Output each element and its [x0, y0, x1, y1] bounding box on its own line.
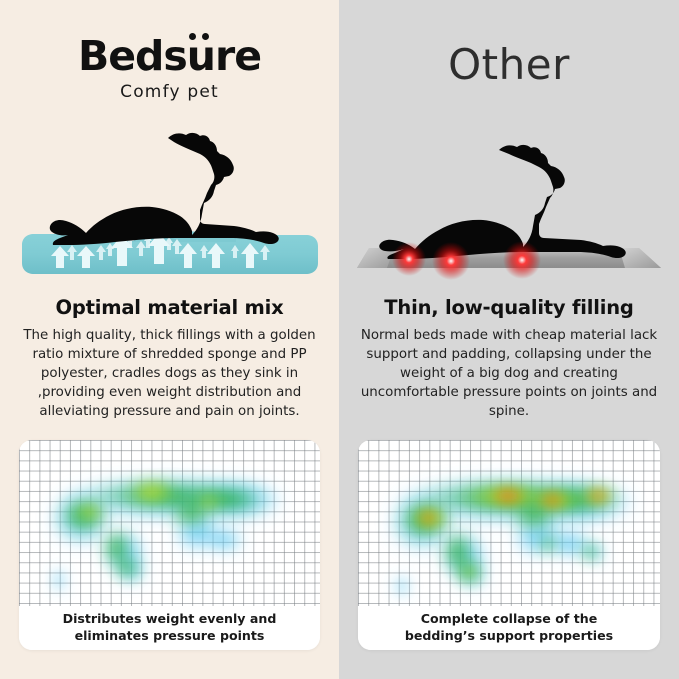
brand-dot-left-icon — [189, 33, 196, 40]
hotspot-1 — [392, 242, 426, 276]
brand-dot-right-icon — [202, 33, 209, 40]
brand-text-part1: Beds — [78, 32, 187, 80]
heatmap-card-left: Distributes weight evenly and eliminates… — [19, 440, 320, 650]
brand-tagline: Comfy pet — [0, 82, 339, 102]
heatmap-card-right: Complete collapse of the bedding’s suppo… — [358, 440, 660, 650]
brand-u-with-dots: u — [187, 36, 215, 77]
heatmap-plot-right — [358, 440, 660, 608]
heatmap-plot-left — [19, 440, 320, 608]
heatmap-caption-left: Distributes weight evenly and eliminates… — [19, 606, 320, 650]
hotspot-3 — [503, 241, 541, 279]
left-caption-line2: eliminates pressure points — [75, 628, 265, 643]
panel-other: Other — [339, 0, 679, 679]
brand-text-part3: re — [215, 32, 261, 80]
brand-logo: Bedsure Comfy pet — [0, 36, 339, 102]
right-body: Normal beds made with cheap material lac… — [353, 326, 665, 421]
copy-block-right: Thin, low-quality filling Normal beds ma… — [353, 296, 665, 421]
left-heading: Optimal material mix — [14, 296, 325, 319]
comparison-board: Bedsure Comfy pet — [0, 0, 679, 679]
heatmap-caption-right: Complete collapse of the bedding’s suppo… — [358, 606, 660, 650]
illustration-dog-on-thick-bed — [0, 128, 339, 288]
right-heading: Thin, low-quality filling — [353, 296, 665, 319]
left-caption-line1: Distributes weight evenly and — [63, 611, 277, 626]
dog-silhouette — [379, 145, 626, 259]
brand-wordmark: Bedsure — [78, 36, 261, 77]
dog-silhouette — [50, 133, 279, 245]
panel-bedsure: Bedsure Comfy pet — [0, 0, 339, 679]
hotspot-2 — [432, 242, 470, 280]
right-caption-line2: bedding’s support properties — [405, 628, 613, 643]
left-body: The high quality, thick fillings with a … — [14, 326, 325, 421]
copy-block-left: Optimal material mix The high quality, t… — [14, 296, 325, 421]
other-title: Other — [339, 40, 679, 89]
illustration-dog-on-flat-mat — [339, 128, 679, 288]
right-caption-line1: Complete collapse of the — [421, 611, 598, 626]
